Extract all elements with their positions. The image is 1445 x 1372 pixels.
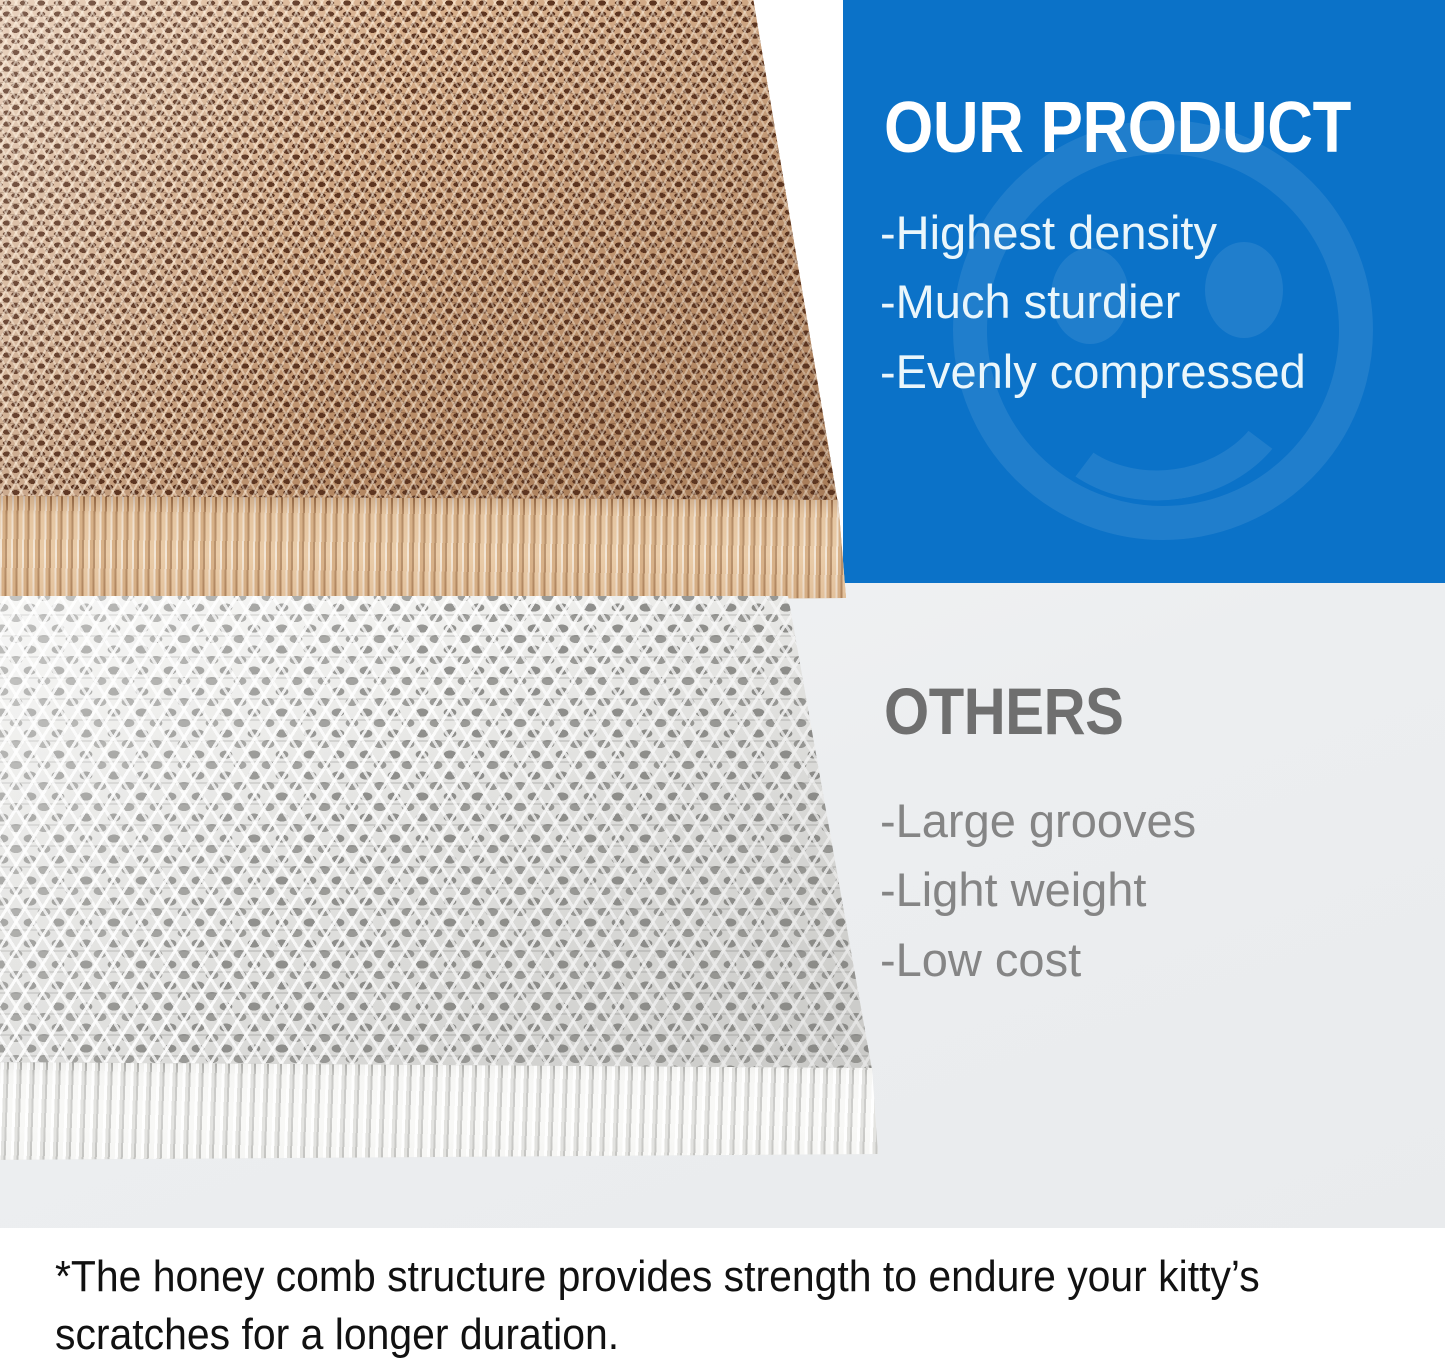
white-honeycomb-sample-face	[0, 596, 888, 1078]
footnote-caption: *The honey comb structure provides stren…	[55, 1248, 1311, 1364]
brown-shading-overlay	[0, 0, 850, 512]
our-product-bullet-2: -Much sturdier	[880, 274, 1306, 329]
white-shading-overlay	[0, 596, 888, 1078]
others-bullet-list: -Large grooves -Light weight -Low cost	[880, 793, 1196, 1001]
others-bullet-3: -Low cost	[880, 932, 1196, 987]
brown-honeycomb-sample-face	[0, 0, 850, 512]
infographic-canvas: OUR PRODUCT -Highest density -Much sturd…	[0, 0, 1445, 1372]
others-bullet-2: -Light weight	[880, 862, 1196, 917]
our-product-bullet-1: -Highest density	[880, 205, 1306, 260]
our-product-bullet-list: -Highest density -Much sturdier -Evenly …	[880, 205, 1306, 413]
our-product-heading: OUR PRODUCT	[884, 92, 1351, 164]
others-heading: OTHERS	[884, 678, 1123, 744]
white-honeycomb-sample-edge	[0, 1062, 888, 1168]
others-bullet-1: -Large grooves	[880, 793, 1196, 848]
our-product-bullet-3: -Evenly compressed	[880, 344, 1306, 399]
